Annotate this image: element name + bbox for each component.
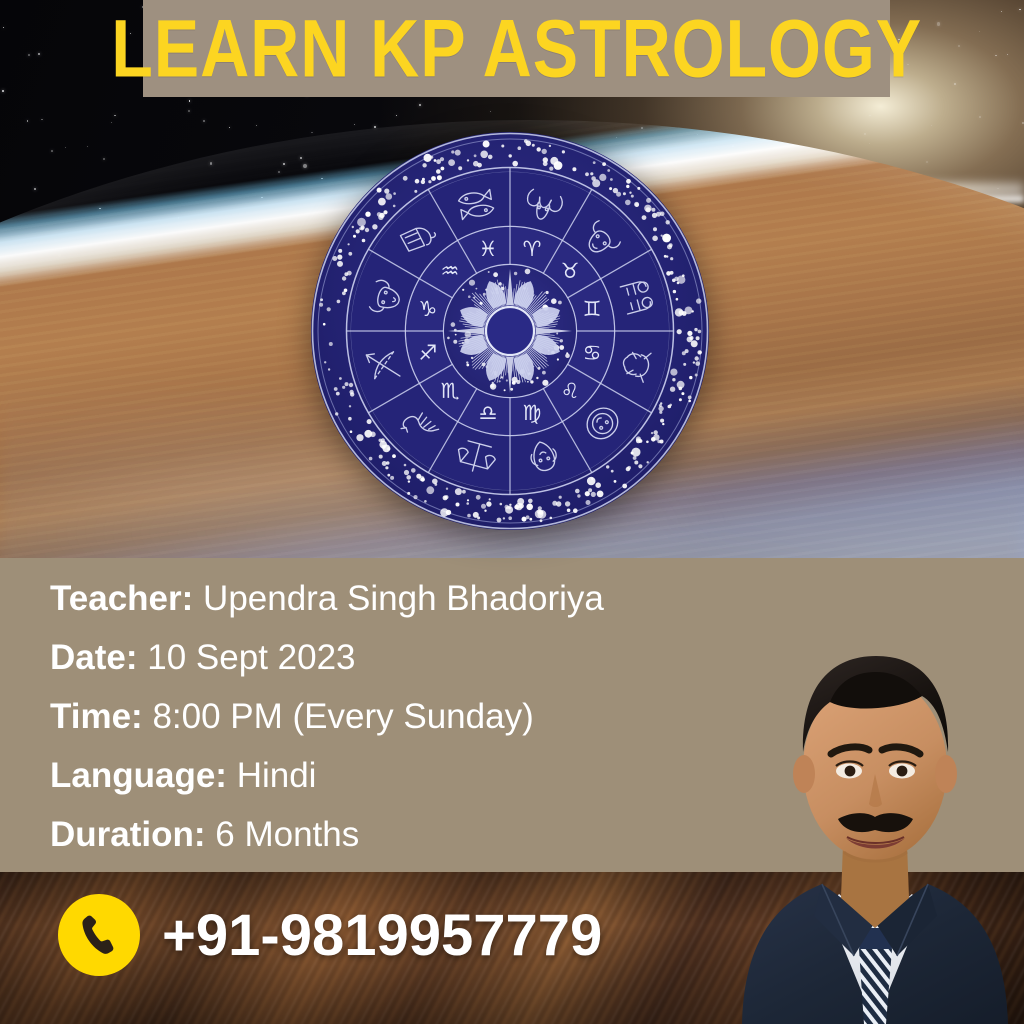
detail-value-duration: 6 Months bbox=[215, 815, 359, 854]
detail-value-date: 10 Sept 2023 bbox=[147, 638, 355, 677]
detail-label-date: Date: bbox=[50, 638, 138, 677]
zodiac-wheel: ♈♉♊♋♌♍♎♏♐♑♒♓ bbox=[310, 131, 710, 531]
svg-text:♌: ♌ bbox=[561, 379, 580, 403]
page-title: LEARN KP ASTROLOGY bbox=[111, 8, 922, 89]
svg-text:♉: ♉ bbox=[561, 259, 580, 283]
title-banner: LEARN KP ASTROLOGY bbox=[143, 0, 890, 97]
svg-text:♍: ♍ bbox=[523, 401, 542, 425]
detail-row-time: Time: 8:00 PM (Every Sunday) bbox=[50, 688, 604, 745]
phone-number[interactable]: +91-9819957779 bbox=[162, 902, 602, 969]
detail-label-duration: Duration: bbox=[50, 815, 206, 854]
detail-value-time: 8:00 PM (Every Sunday) bbox=[152, 697, 533, 736]
svg-text:♐: ♐ bbox=[418, 341, 437, 365]
astrology-course-poster: LEARN KP ASTROLOGY bbox=[0, 0, 1024, 1024]
detail-label-time: Time: bbox=[50, 697, 143, 736]
svg-text:♊: ♊ bbox=[583, 297, 602, 321]
detail-row-duration: Duration: 6 Months bbox=[50, 806, 604, 863]
portrait-head bbox=[793, 656, 957, 861]
phone-handset-icon bbox=[76, 912, 122, 958]
detail-row-language: Language: Hindi bbox=[50, 747, 604, 804]
detail-label-teacher: Teacher: bbox=[50, 579, 193, 618]
details-list: Teacher: Upendra Singh Bhadoriya Date: 1… bbox=[50, 570, 604, 863]
svg-text:♏: ♏ bbox=[440, 379, 459, 403]
svg-text:♎: ♎ bbox=[479, 401, 498, 425]
teacher-portrait bbox=[726, 616, 1024, 1024]
svg-text:♈: ♈ bbox=[523, 237, 542, 261]
svg-text:♑: ♑ bbox=[418, 297, 437, 321]
detail-row-teacher: Teacher: Upendra Singh Bhadoriya bbox=[50, 570, 604, 627]
svg-text:♓: ♓ bbox=[479, 237, 498, 261]
detail-value-language: Hindi bbox=[237, 756, 317, 795]
svg-text:♋: ♋ bbox=[583, 341, 602, 365]
phone-contact[interactable]: +91-9819957779 bbox=[58, 894, 602, 976]
phone-icon-badge[interactable] bbox=[58, 894, 140, 976]
detail-value-teacher: Upendra Singh Bhadoriya bbox=[203, 579, 604, 618]
detail-label-language: Language: bbox=[50, 756, 227, 795]
svg-text:♒: ♒ bbox=[440, 259, 459, 283]
detail-row-date: Date: 10 Sept 2023 bbox=[50, 629, 604, 686]
